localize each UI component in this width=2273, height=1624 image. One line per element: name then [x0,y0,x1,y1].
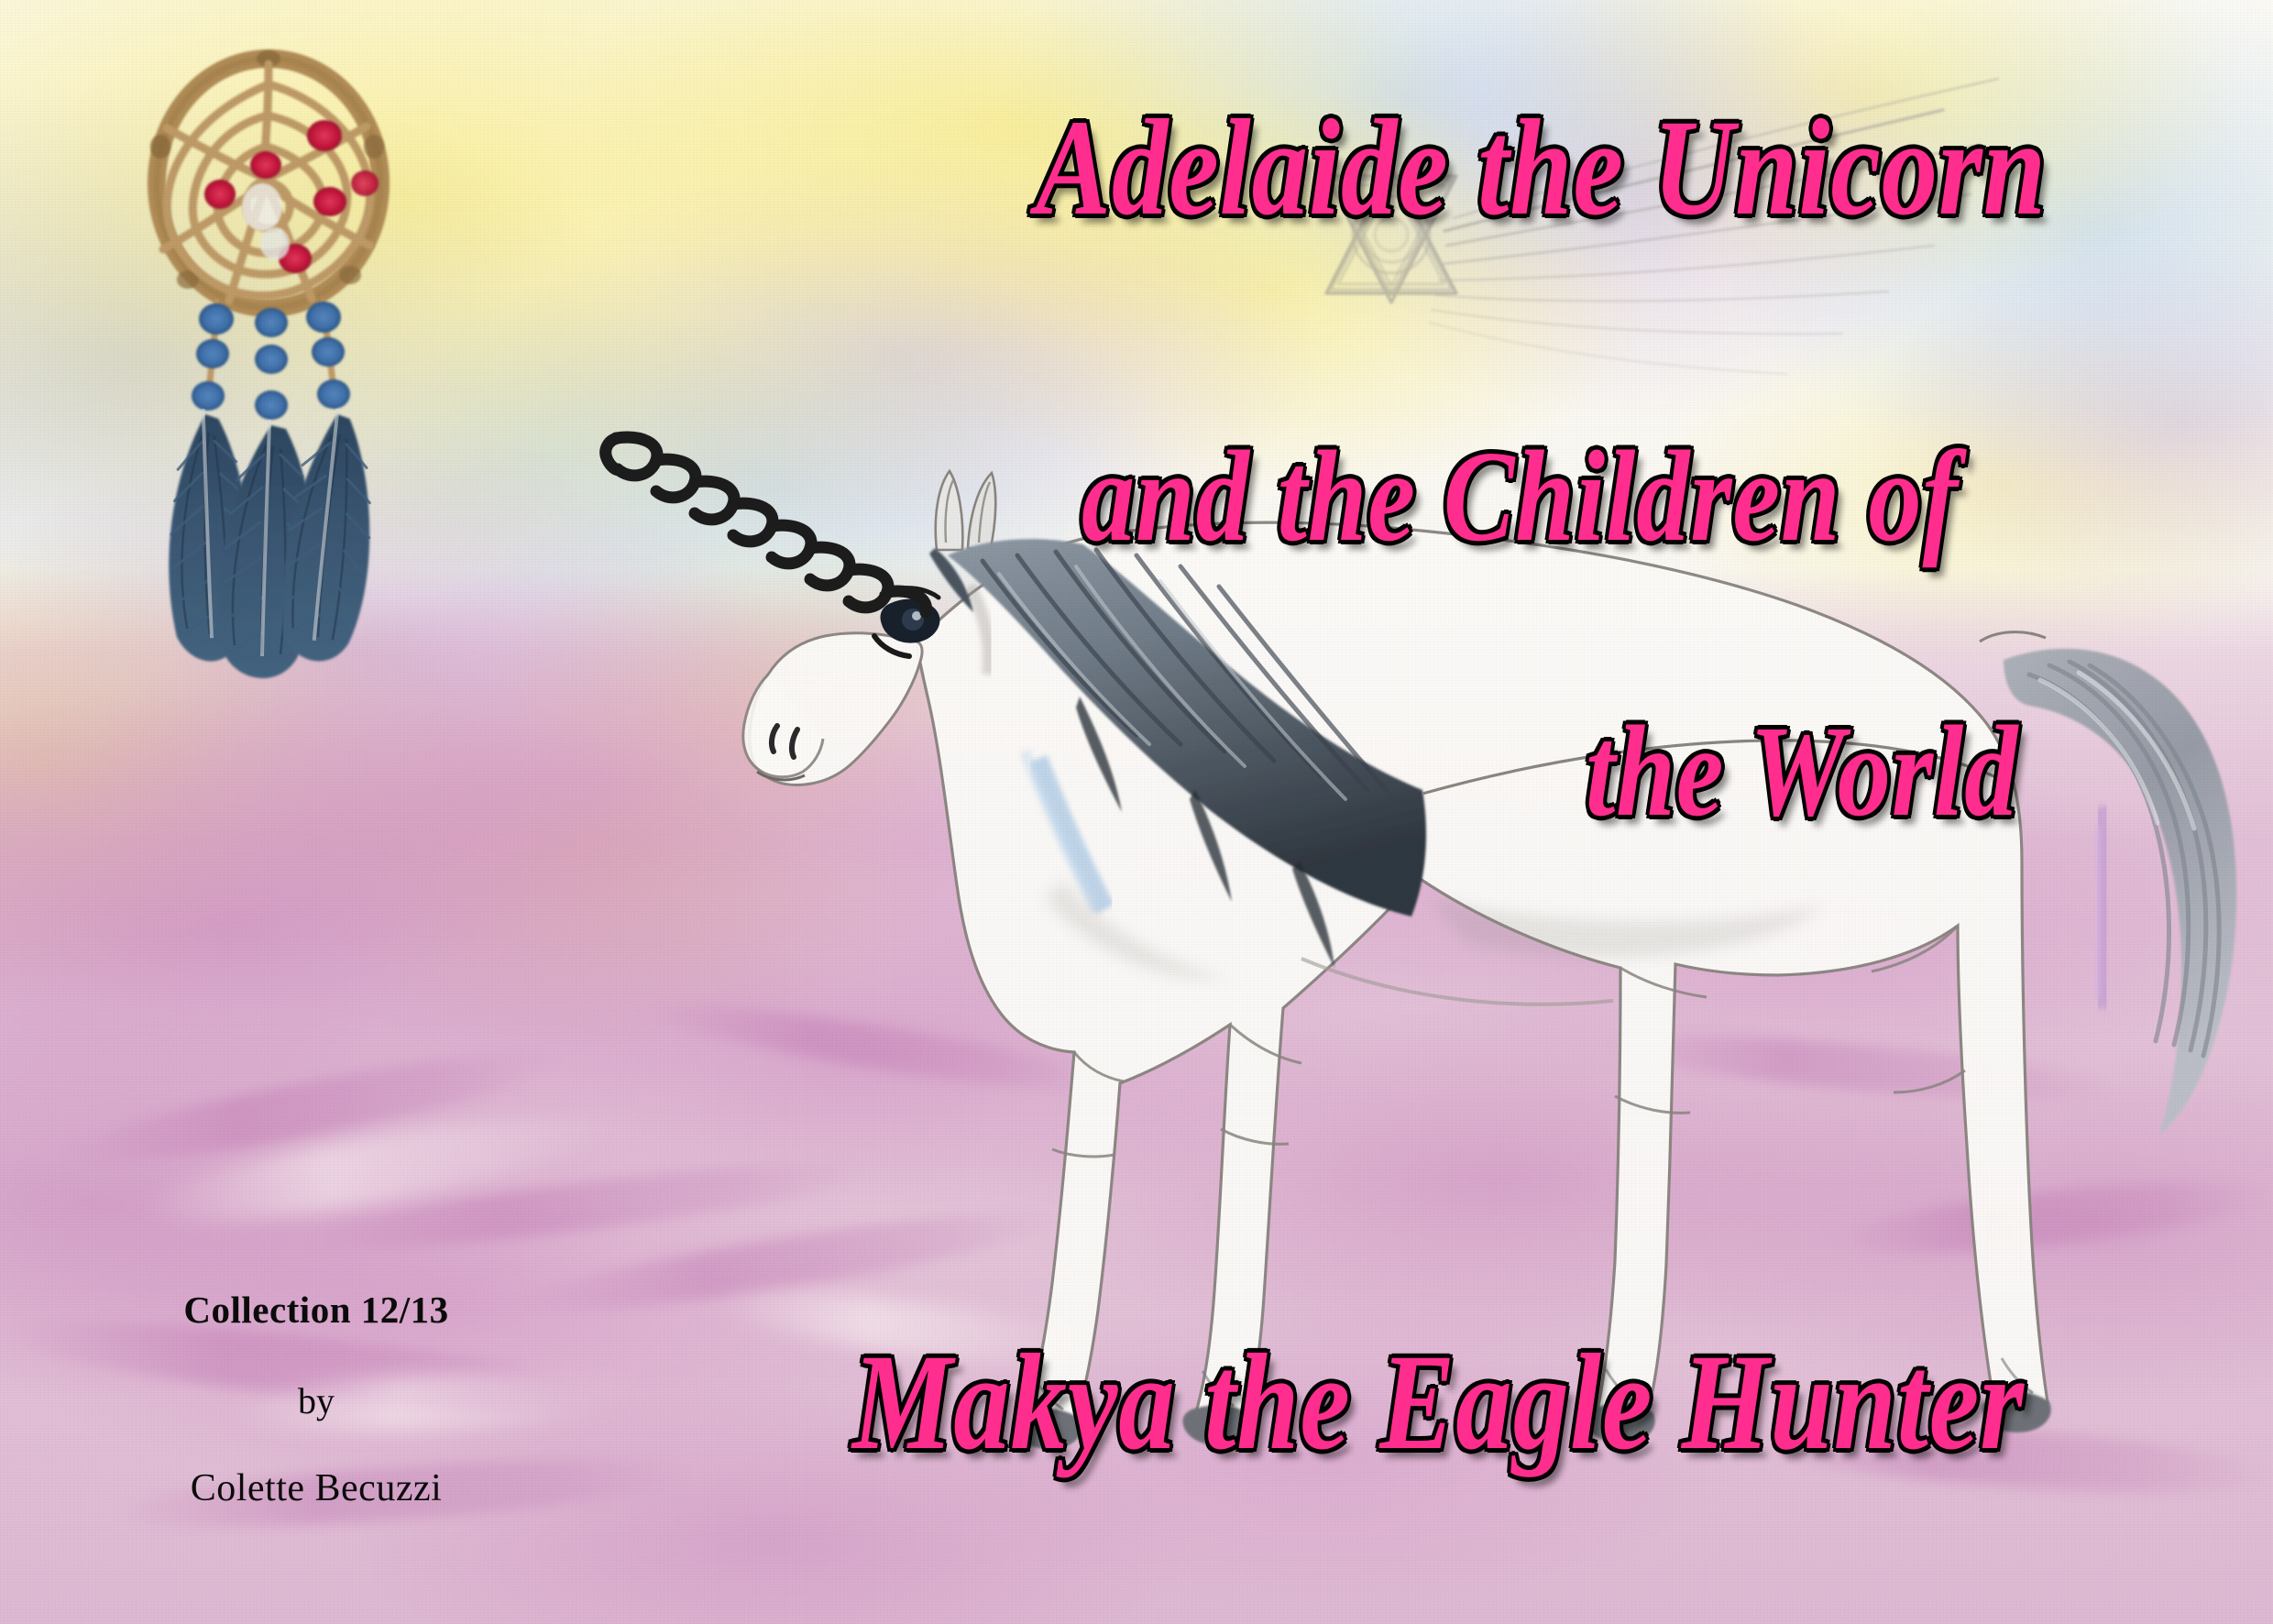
title-line-3: the World [1586,706,2018,836]
book-cover: Adelaide the Unicorn and the Children of… [0,0,2273,1624]
subtitle: Makya the Eagle Hunter [852,1333,2025,1471]
byline-block: Collection 12/13 by Colette Becuzzi [137,1288,495,1510]
author-name: Colette Becuzzi [137,1466,495,1510]
collection-label: Collection 12/13 [137,1288,495,1332]
title-line-2: and the Children of [1082,431,1959,561]
by-label: by [137,1379,495,1422]
title-line-1: Adelaide the Unicorn [1036,99,2047,236]
